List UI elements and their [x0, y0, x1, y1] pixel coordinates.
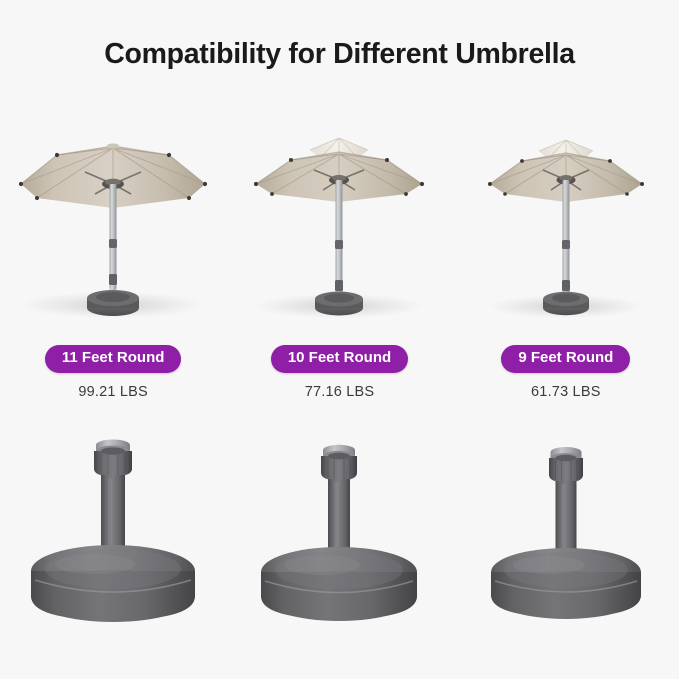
- umbrella-column-9-feet: [453, 105, 679, 330]
- umbrella-svg: [246, 122, 432, 318]
- base-collar: [94, 440, 132, 478]
- base-cell-99lbs: [0, 418, 226, 653]
- weight-cell-9-feet: 61.73 LBS: [453, 383, 679, 401]
- umbrella-svg: [13, 122, 213, 318]
- pole-group: [562, 180, 570, 298]
- base-product-row: [0, 418, 679, 653]
- badge-cell-9-feet: 9 Feet Round: [453, 345, 679, 373]
- pole-group: [335, 180, 343, 298]
- weight-cell-10-feet: 77.16 LBS: [226, 383, 452, 401]
- umbrella-stage: [453, 105, 679, 330]
- size-badge-row: 11 Feet Round 10 Feet Round 9 Feet Round: [0, 345, 679, 373]
- umbrella-base-image-61lbs: [482, 437, 650, 635]
- umbrella-image-10-feet: [246, 122, 432, 318]
- weight-label-99lbs: 99.21 LBS: [78, 384, 148, 400]
- weight-label-77lbs: 77.16 LBS: [305, 384, 375, 400]
- page-title: Compatibility for Different Umbrella: [0, 38, 679, 71]
- badge-cell-10-feet: 10 Feet Round: [226, 345, 452, 373]
- base-svg: [253, 435, 425, 635]
- umbrella-base-small: [315, 292, 363, 316]
- weight-label-61lbs: 61.73 LBS: [531, 384, 601, 400]
- umbrella-image-9-feet: [480, 122, 652, 318]
- weight-cell-11-feet: 99.21 LBS: [0, 383, 226, 401]
- base-cell-61lbs: [453, 418, 679, 653]
- umbrella-base-image-99lbs: [23, 430, 203, 635]
- umbrella-column-11-feet: [0, 105, 226, 330]
- umbrella-base-small: [87, 290, 139, 316]
- size-badge-10-feet: 10 Feet Round: [271, 345, 408, 373]
- umbrella-illustration-row: [0, 105, 679, 330]
- infographic-page: Compatibility for Different Umbrella: [0, 0, 679, 679]
- base-collar: [321, 445, 357, 481]
- base-svg: [482, 437, 650, 635]
- pole-group: [109, 184, 117, 290]
- base-collar: [549, 447, 583, 483]
- umbrella-column-10-feet: [226, 105, 452, 330]
- size-badge-11-feet: 11 Feet Round: [45, 345, 182, 373]
- umbrella-base-small: [543, 292, 589, 315]
- weight-label-row: 99.21 LBS 77.16 LBS 61.73 LBS: [0, 383, 679, 401]
- badge-cell-11-feet: 11 Feet Round: [0, 345, 226, 373]
- umbrella-stage: [226, 105, 452, 330]
- umbrella-stage: [0, 105, 226, 330]
- umbrella-svg: [480, 122, 652, 318]
- umbrella-base-image-77lbs: [253, 435, 425, 635]
- umbrella-image-11-feet: [13, 122, 213, 318]
- base-cell-77lbs: [226, 418, 452, 653]
- size-badge-9-feet: 9 Feet Round: [501, 345, 630, 373]
- base-svg: [23, 430, 203, 635]
